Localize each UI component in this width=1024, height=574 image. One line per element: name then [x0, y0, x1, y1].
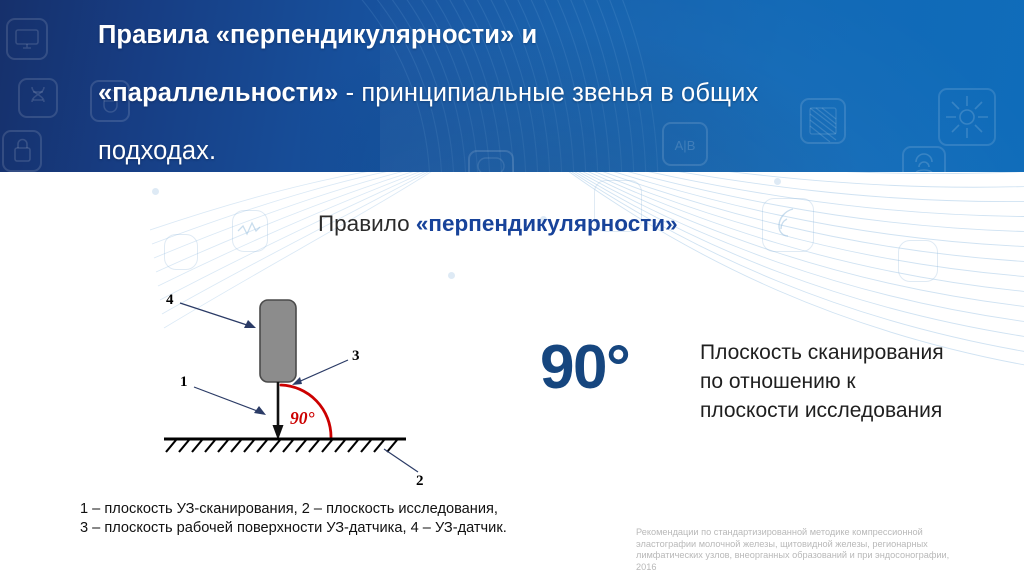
slide-header: A|B Правила «перп	[0, 0, 1024, 172]
transducer-body	[260, 300, 296, 382]
title-line-3-text: подходах.	[98, 137, 216, 165]
callout-4-leader	[180, 303, 250, 326]
angle-callout-line-1: Плоскость сканирования	[700, 338, 944, 367]
decor-dot-b	[774, 178, 781, 185]
decor-dot-a	[152, 188, 159, 195]
callout-1-leader	[194, 387, 260, 412]
callout-3-label: 3	[352, 348, 360, 364]
source-line-3: лимфатических узлов, внеорганных образов…	[636, 550, 1024, 562]
ultrasound-perpendicularity-diagram: 90° 4 3	[150, 282, 470, 492]
subtitle-lead: Правило	[318, 211, 416, 236]
callout-1-arrow-head	[254, 406, 266, 415]
source-reference: Рекомендации по стандартизированной мето…	[636, 527, 1024, 573]
title-line-1: Правила «перпендикулярности» и	[98, 6, 1008, 64]
source-line-1: Рекомендации по стандартизированной мето…	[636, 527, 1024, 539]
title-line-3: подходах.	[98, 122, 1008, 172]
decor-dot-d	[448, 272, 455, 279]
callout-3-leader	[296, 360, 348, 383]
lock-icon	[2, 130, 42, 172]
subtitle-accent: «перпендикулярности»	[416, 211, 678, 236]
callout-2-leader	[384, 449, 418, 472]
dna-icon	[18, 78, 58, 118]
title-line-2-bold: «параллельности»	[98, 79, 338, 107]
lung-icon	[762, 198, 814, 252]
callout-4-label: 4	[166, 292, 174, 308]
angle-callout-line-2: по отношению к	[700, 367, 944, 396]
monitor-icon	[6, 18, 48, 60]
source-line-4: 2016	[636, 562, 1024, 574]
rounded-square-icon-b	[164, 234, 198, 270]
slide: A|B Правила «перп	[0, 0, 1024, 574]
slide-title: Правила «перпендикулярности» и «параллел…	[98, 6, 1008, 172]
source-line-2: эластографии молочной железы, щитовидной…	[636, 539, 1024, 551]
section-subtitle: Правило «перпендикулярности»	[318, 211, 678, 237]
callout-2-label: 2	[416, 473, 424, 489]
waveform-icon	[232, 210, 268, 252]
right-angle-label: 90°	[290, 408, 315, 428]
angle-callout-line-3: плоскости исследования	[700, 396, 944, 425]
angle-callout-description: Плоскость сканирования по отношению к пл…	[700, 338, 944, 425]
study-plane-hatching	[166, 440, 397, 452]
callout-1-label: 1	[180, 374, 188, 390]
diagram-caption: 1 – плоскость УЗ-сканирования, 2 – плоск…	[80, 500, 510, 538]
title-line-2-regular: - принципиальные звенья в общих	[338, 79, 758, 107]
title-line-2: «параллельности» - принципиальные звенья…	[98, 64, 1008, 122]
title-line-1-text: Правила «перпендикулярности» и	[98, 21, 537, 49]
rounded-square-icon-c	[898, 240, 938, 282]
angle-callout-value: 90°	[540, 334, 629, 402]
